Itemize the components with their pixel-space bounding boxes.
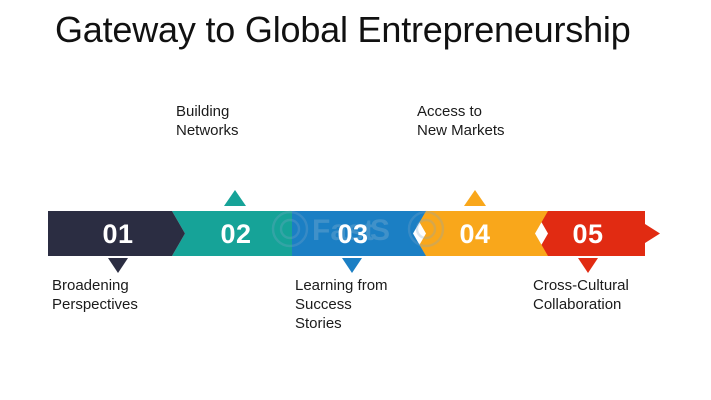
segment-number-03: 03: [313, 218, 393, 250]
marker-triangle-up-02: [224, 190, 246, 206]
segment-label-04: Access to New Markets: [417, 102, 505, 140]
segment-number-05: 05: [548, 218, 628, 250]
segment-label-01: Broadening Perspectives: [52, 276, 138, 314]
slide-canvas: Gateway to Global Entrepreneurship Fast: [0, 0, 711, 400]
segment-number-01: 01: [78, 218, 158, 250]
segment-number-04: 04: [435, 218, 515, 250]
segment-label-03: Learning from Success Stories: [295, 276, 388, 333]
marker-triangle-down-05: [578, 258, 598, 273]
page-title: Gateway to Global Entrepreneurship: [55, 8, 631, 52]
marker-triangle-down-01: [108, 258, 128, 273]
segment-label-05: Cross-Cultural Collaboration: [533, 276, 629, 314]
segment-number-02: 02: [196, 218, 276, 250]
marker-triangle-down-03: [342, 258, 362, 273]
marker-triangle-up-04: [464, 190, 486, 206]
segment-label-02: Building Networks: [176, 102, 239, 140]
